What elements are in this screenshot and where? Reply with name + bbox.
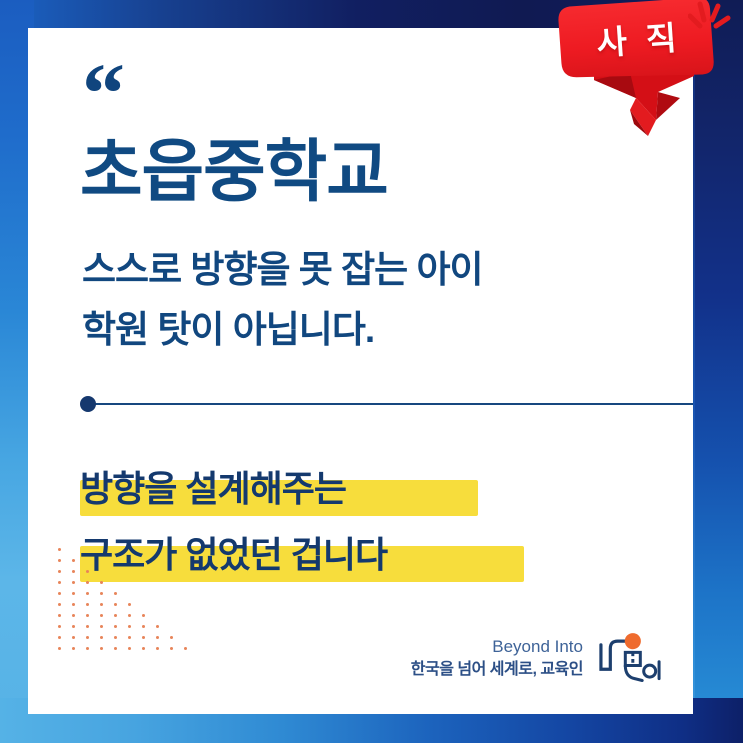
footer-tagline: Beyond Into 한국을 넘어 세계로, 교육인 — [411, 636, 583, 681]
pattern-dot — [100, 603, 103, 606]
status-badge[interactable]: 사 직 — [548, 0, 728, 146]
pattern-dot — [100, 625, 103, 628]
pattern-dot — [142, 647, 145, 650]
bullet-dot-icon — [80, 396, 96, 412]
divider — [80, 396, 693, 412]
pattern-dot — [128, 603, 131, 606]
pattern-dot — [58, 647, 61, 650]
pattern-dot — [100, 647, 103, 650]
pattern-dot — [156, 625, 159, 628]
pattern-dot — [100, 614, 103, 617]
pattern-dot — [86, 614, 89, 617]
pattern-dot — [58, 636, 61, 639]
pattern-dot — [58, 570, 61, 573]
pattern-dot — [156, 647, 159, 650]
page-title: 초읍중학교 — [80, 138, 388, 206]
pattern-dot — [100, 592, 103, 595]
pattern-dot — [86, 581, 89, 584]
pattern-dot — [58, 592, 61, 595]
pattern-dot — [58, 625, 61, 628]
pattern-dot — [128, 614, 131, 617]
pattern-dot — [86, 592, 89, 595]
pattern-dot — [100, 581, 103, 584]
highlight-text-1: 방향을 설계해주는 — [80, 458, 640, 520]
footer-branding: Beyond Into 한국을 넘어 세계로, 교육인 — [411, 628, 663, 688]
quotation-mark-icon: “ — [82, 50, 121, 136]
pattern-dot — [128, 647, 131, 650]
headline-subtitle: 스스로 방향을 못 잡는 아이 학원 탓이 아닙니다. — [82, 240, 483, 360]
pattern-dot — [72, 581, 75, 584]
pattern-dot — [86, 570, 89, 573]
pattern-dot — [114, 614, 117, 617]
pattern-dot — [184, 647, 187, 650]
pattern-dot — [72, 570, 75, 573]
poster-canvas: “ 초읍중학교 스스로 방향을 못 잡는 아이 학원 탓이 아닙니다. 방향을 … — [0, 0, 743, 743]
pattern-dot — [86, 647, 89, 650]
pattern-dot — [114, 647, 117, 650]
gyoyugin-logo — [597, 628, 663, 688]
footer-tagline-kr: 한국을 넘어 세계로, 교육인 — [411, 659, 583, 681]
pattern-dot — [72, 636, 75, 639]
pattern-dot — [72, 647, 75, 650]
pattern-dot — [86, 603, 89, 606]
pattern-dot — [72, 559, 75, 562]
pattern-dot — [170, 647, 173, 650]
pattern-dot — [114, 592, 117, 595]
pattern-dot — [114, 603, 117, 606]
pattern-dot — [142, 636, 145, 639]
pattern-dot — [142, 614, 145, 617]
logo-orange-dot — [625, 633, 641, 649]
divider-line — [92, 403, 693, 405]
pattern-dot — [142, 625, 145, 628]
pattern-dot — [58, 548, 61, 551]
sparkle-lines-icon — [688, 0, 732, 42]
pattern-dot — [100, 636, 103, 639]
pattern-dot — [72, 614, 75, 617]
footer-tagline-en: Beyond Into — [411, 636, 583, 659]
pattern-dot — [72, 625, 75, 628]
pattern-dot — [72, 603, 75, 606]
pattern-dot — [114, 625, 117, 628]
pattern-dot — [58, 614, 61, 617]
highlight-line: 방향을 설계해주는 — [80, 458, 640, 520]
pattern-dot — [114, 636, 117, 639]
pattern-dot — [128, 636, 131, 639]
pattern-dot — [86, 636, 89, 639]
pattern-dot — [86, 625, 89, 628]
pattern-dot — [156, 636, 159, 639]
pattern-dot — [128, 625, 131, 628]
pattern-dot — [58, 603, 61, 606]
pattern-dot — [58, 559, 61, 562]
headline-subtitle-line-2: 학원 탓이 아닙니다. — [82, 300, 483, 360]
pattern-dot — [170, 636, 173, 639]
pattern-dot — [72, 592, 75, 595]
triangle-dot-pattern — [58, 548, 258, 658]
headline-subtitle-line-1: 스스로 방향을 못 잡는 아이 — [82, 240, 483, 300]
pattern-dot — [58, 581, 61, 584]
